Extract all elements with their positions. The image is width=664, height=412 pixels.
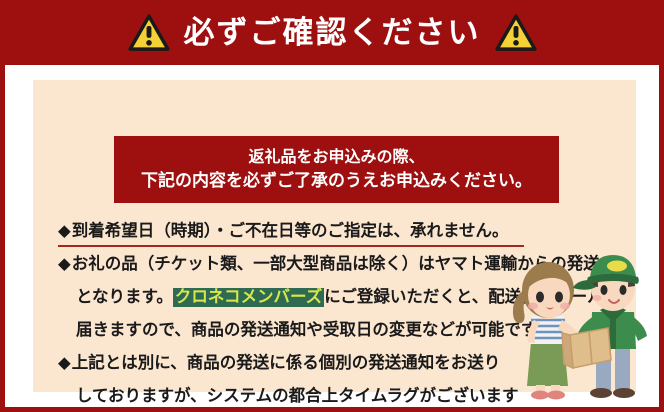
lead-banner-line-2: 下記の内容を必ずご了承のうえお申込みください。 [141, 169, 532, 194]
notice-title: 必ずご確認ください [184, 17, 481, 48]
warning-triangle-icon [495, 14, 537, 52]
lead-banner: 返礼品をお申込みの際、 下記の内容を必ずご了承のうえお申込みください。 [114, 136, 559, 203]
woman-receiving-parcel [513, 262, 584, 400]
note-line: ◆ 到着希望日（時期）・ご不在日等のご指定は、承れません。 [58, 215, 618, 248]
note-text: 届きますので、商品の発送通知や受取日の変更などが可能です。 [76, 322, 552, 339]
delivery-handoff-illustration [484, 250, 654, 402]
notice-body: 返礼品をお申込みの際、 下記の内容を必ずご了承のうえお申込みください。 ◆ 到着… [14, 70, 655, 403]
note-text: 到着希望日（時期）・ご不在日等のご指定は、承れません。 [72, 223, 509, 240]
warning-triangle-icon [128, 14, 170, 52]
kuroneko-members-highlight: クロネコメンバーズ [173, 288, 324, 307]
bullet-glyph: ◆ [58, 223, 71, 240]
bullet-glyph: ◆ [58, 256, 71, 273]
note-text: となります。 [76, 289, 173, 306]
notice-card: 必ずご確認ください 返礼品をお申込みの際、 下記の内容を必ずご了承のうえお申込み… [0, 0, 664, 412]
lead-banner-line-1: 返礼品をお申込みの際、 [248, 146, 424, 169]
notice-header: 必ずご確認ください [0, 0, 664, 65]
note-text: 上記とは別に、商品の発送に係る個別の発送通知をお送り [72, 355, 501, 372]
bullet-glyph: ◆ [58, 355, 71, 372]
note-text: しておりますが、システムの都合上タイムラグがございます [76, 388, 519, 405]
delivery-illustration-svg [484, 250, 654, 402]
delivery-person-with-parcel [573, 255, 647, 398]
